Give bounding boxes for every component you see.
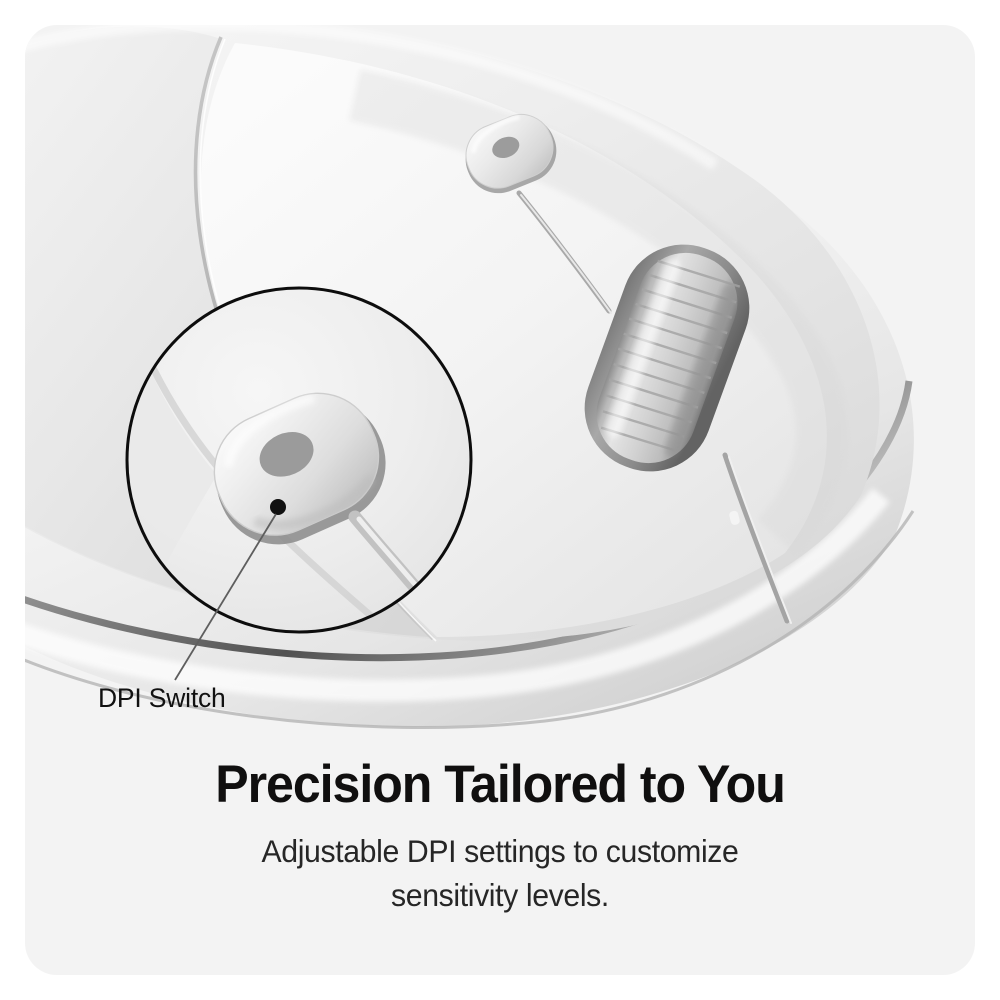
callout-marker-dot bbox=[270, 499, 286, 515]
product-card bbox=[25, 25, 975, 975]
callout-label: DPI Switch bbox=[98, 683, 226, 714]
mouse-product-photo bbox=[25, 25, 975, 975]
product-feature-image: DPI Switch Precision Tailored to You Adj… bbox=[0, 0, 1000, 1000]
